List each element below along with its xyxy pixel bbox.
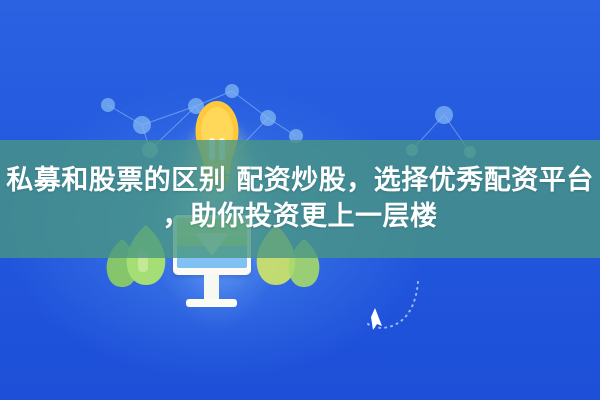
monitor-stand-neck	[204, 274, 219, 300]
headline-band	[0, 140, 600, 258]
promo-banner: 私募和股票的区别 配资炒股，选择优秀配资平台 ，助你投资更上一层楼	[0, 0, 600, 400]
paper-plane-graphic	[340, 280, 450, 350]
monitor-stand-base	[186, 299, 237, 307]
